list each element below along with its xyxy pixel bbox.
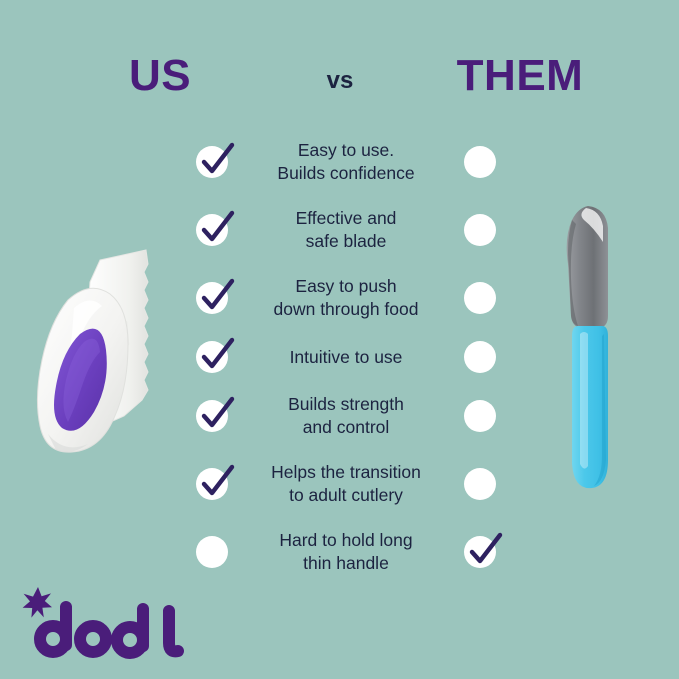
comparison-row-label: Easy to use. Builds confidence bbox=[228, 139, 464, 185]
them-empty-circle-icon bbox=[464, 341, 496, 373]
us-check-icon bbox=[196, 146, 228, 178]
comparison-infographic: US vs THEM Easy to use. Builds confidenc… bbox=[0, 0, 679, 679]
doddl-knife-image bbox=[28, 238, 208, 463]
comparison-row-label: Hard to hold long thin handle bbox=[228, 529, 464, 575]
them-empty-circle-icon bbox=[464, 282, 496, 314]
heading-them: THEM bbox=[360, 52, 679, 100]
comparison-row: Intuitive to use bbox=[196, 332, 496, 382]
comparison-row: Easy to use. Builds confidence bbox=[196, 128, 496, 196]
them-check-icon bbox=[464, 536, 496, 568]
them-empty-circle-icon bbox=[464, 468, 496, 500]
comparison-row-label: Helps the transition to adult cutlery bbox=[228, 461, 464, 507]
comparison-row: Builds strength and control bbox=[196, 382, 496, 450]
comparison-row: Helps the transition to adult cutlery bbox=[196, 450, 496, 518]
us-check-icon bbox=[196, 468, 228, 500]
heading-us: US bbox=[0, 52, 320, 100]
them-empty-circle-icon bbox=[464, 400, 496, 432]
comparison-row-label: Intuitive to use bbox=[228, 346, 464, 369]
asterisk-star-icon bbox=[23, 587, 52, 618]
us-empty-circle-icon bbox=[196, 536, 228, 568]
conventional-knife-image bbox=[528, 198, 660, 500]
comparison-row: Hard to hold long thin handle bbox=[196, 518, 496, 586]
comparison-row-label: Builds strength and control bbox=[228, 393, 464, 439]
them-empty-circle-icon bbox=[464, 214, 496, 246]
comparison-row-label: Effective and safe blade bbox=[228, 207, 464, 253]
them-empty-circle-icon bbox=[464, 146, 496, 178]
comparison-row: Effective and safe blade bbox=[196, 196, 496, 264]
comparison-row: Easy to push down through food bbox=[196, 264, 496, 332]
doddl-logo bbox=[18, 583, 193, 663]
comparison-row-label: Easy to push down through food bbox=[228, 275, 464, 321]
comparison-table: Easy to use. Builds confidenceEffective … bbox=[196, 128, 496, 586]
